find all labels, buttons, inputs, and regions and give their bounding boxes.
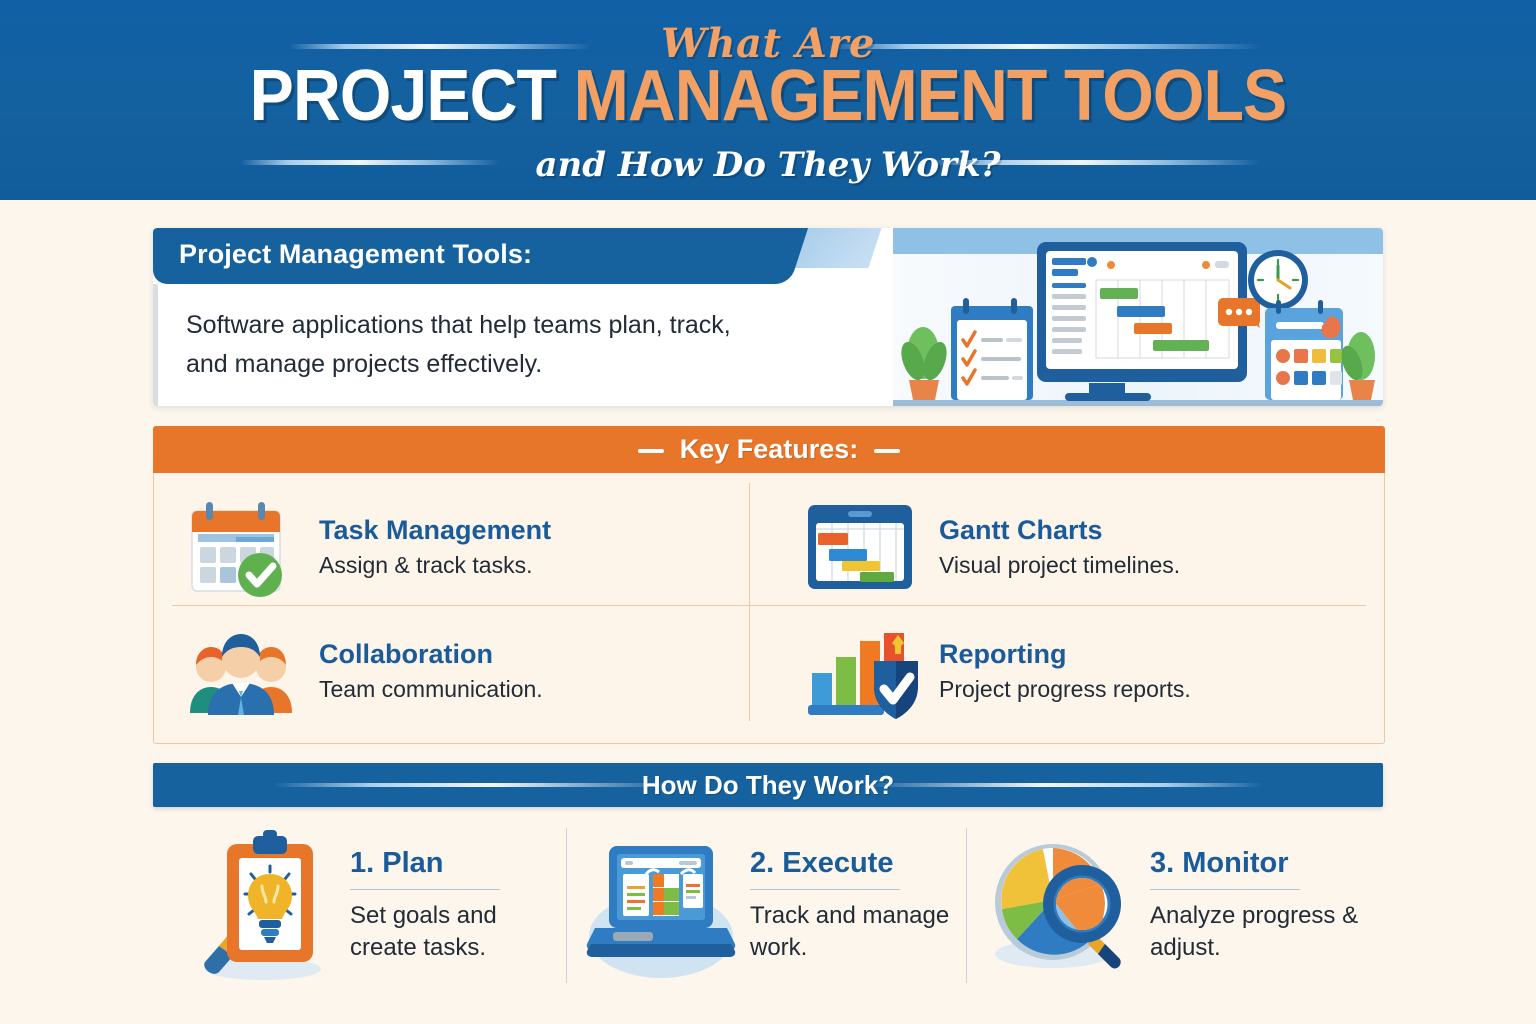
how-it-works-rule-right xyxy=(863,783,1263,787)
step-subtitle: Analyze progress & adjust. xyxy=(1150,900,1383,963)
pie-chart-magnifier-icon xyxy=(983,826,1138,986)
key-features-heading-text: Key Features: xyxy=(680,434,859,464)
how-it-works-header: How Do They Work? xyxy=(153,763,1383,807)
step-item-monitor[interactable]: 3. Monitor Analyze progress & adjust. xyxy=(983,818,1383,993)
step-divider-1 xyxy=(566,828,567,983)
definition-left-accent xyxy=(153,284,158,406)
clipboard-lightbulb-icon xyxy=(183,826,338,986)
feature-text-group: Task Management Assign & track tasks. xyxy=(319,515,551,578)
definition-body: Software applications that help teams pl… xyxy=(186,306,746,384)
infographic-page: What Are PROJECT MANAGEMENT TOOLS and Ho… xyxy=(0,0,1536,1024)
step-title: 1. Plan xyxy=(350,847,563,880)
key-features-header: Key Features: xyxy=(153,426,1385,473)
feature-item-gantt-charts[interactable]: Gantt Charts Visual project timelines. xyxy=(804,493,1364,601)
feature-text-group: Gantt Charts Visual project timelines. xyxy=(939,515,1180,578)
feature-item-reporting[interactable]: Reporting Project progress reports. xyxy=(804,617,1364,725)
dash-right-icon xyxy=(874,449,900,453)
step-divider-2 xyxy=(966,828,967,983)
step-subtitle: Set goals and create tasks. xyxy=(350,900,563,963)
step-text-group: 2. Execute Track and manage work. xyxy=(750,847,963,963)
step-underline xyxy=(1150,889,1300,890)
page-title: PROJECT MANAGEMENT TOOLS xyxy=(61,60,1474,132)
page-title-accent: MANAGEMENT TOOLS xyxy=(574,56,1287,136)
feature-title: Task Management xyxy=(319,515,551,546)
feature-title: Gantt Charts xyxy=(939,515,1180,546)
feature-title: Collaboration xyxy=(319,639,543,670)
definition-card: Project Management Tools: Software appli… xyxy=(153,228,1383,406)
team-people-icon xyxy=(184,621,299,721)
key-features-horizontal-divider xyxy=(172,605,1366,606)
dash-left-icon xyxy=(638,449,664,453)
key-features-vertical-divider xyxy=(749,483,750,721)
step-underline xyxy=(750,889,900,890)
step-title: 2. Execute xyxy=(750,847,963,880)
laptop-kanban-icon xyxy=(583,826,738,986)
definition-heading: Project Management Tools: xyxy=(179,239,532,270)
key-features-panel: Key Features: xyxy=(153,426,1385,744)
feature-subtitle: Visual project timelines. xyxy=(939,552,1180,579)
feature-text-group: Collaboration Team communication. xyxy=(319,639,543,702)
bar-chart-shield-icon xyxy=(804,621,919,721)
gantt-chart-icon xyxy=(804,497,919,597)
feature-subtitle: Team communication. xyxy=(319,676,543,703)
how-it-works-rule-left xyxy=(273,783,673,787)
calendar-check-icon xyxy=(184,497,299,597)
feature-subtitle: Project progress reports. xyxy=(939,676,1191,703)
step-subtitle: Track and manage work. xyxy=(750,900,963,963)
header-subtitle: and How Do They Work? xyxy=(0,145,1536,185)
feature-text-group: Reporting Project progress reports. xyxy=(939,639,1191,702)
feature-title: Reporting xyxy=(939,639,1191,670)
header-banner: What Are PROJECT MANAGEMENT TOOLS and Ho… xyxy=(0,0,1536,200)
page-title-white: PROJECT xyxy=(250,56,556,136)
feature-item-task-management[interactable]: Task Management Assign & track tasks. xyxy=(184,493,744,601)
step-text-group: 1. Plan Set goals and create tasks. xyxy=(350,847,563,963)
key-features-heading: Key Features: xyxy=(622,434,917,465)
step-item-plan[interactable]: 1. Plan Set goals and create tasks. xyxy=(183,818,563,993)
project-dashboard-illustration xyxy=(893,228,1383,406)
step-title: 3. Monitor xyxy=(1150,847,1383,880)
step-text-group: 3. Monitor Analyze progress & adjust. xyxy=(1150,847,1383,963)
step-item-execute[interactable]: 2. Execute Track and manage work. xyxy=(583,818,963,993)
feature-subtitle: Assign & track tasks. xyxy=(319,552,551,579)
step-underline xyxy=(350,889,500,890)
feature-item-collaboration[interactable]: Collaboration Team communication. xyxy=(184,617,744,725)
how-it-works-steps: 1. Plan Set goals and create tasks. xyxy=(153,818,1383,993)
how-it-works-heading: How Do They Work? xyxy=(642,770,894,801)
